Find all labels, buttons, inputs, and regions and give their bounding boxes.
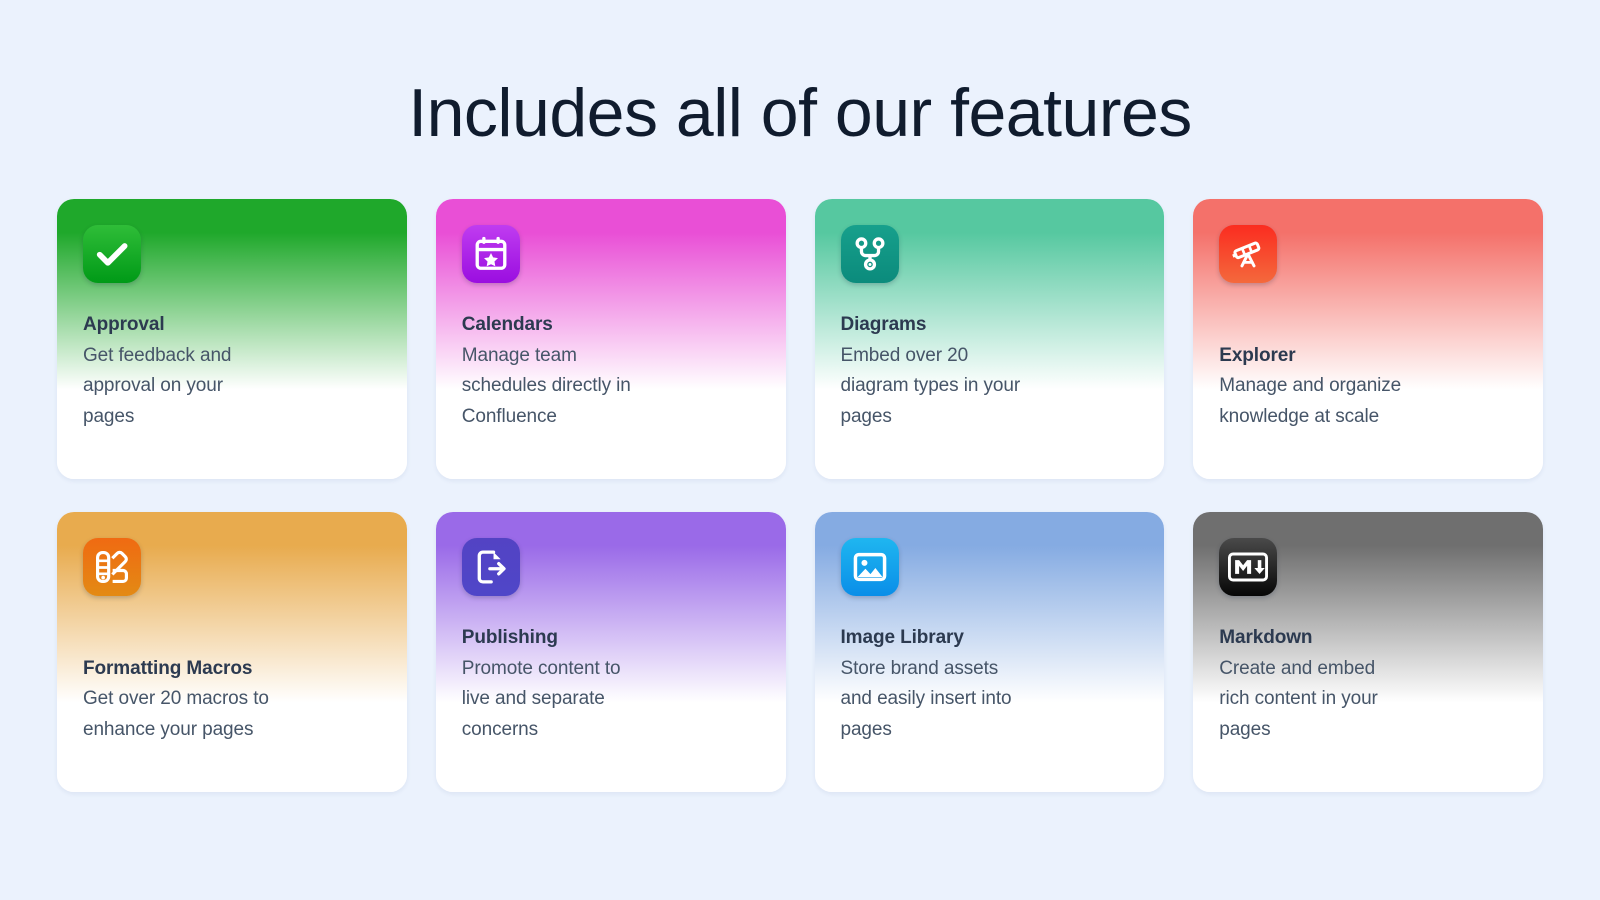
card-content: DiagramsEmbed over 20 diagram types in y… (841, 225, 1139, 479)
card-text-block: Formatting MacrosGet over 20 macros to e… (83, 657, 381, 792)
feature-card[interactable]: MarkdownCreate and embed rich content in… (1193, 512, 1543, 792)
card-title: Image Library (841, 626, 1139, 650)
document-export-icon (472, 548, 510, 586)
card-content: ApprovalGet feedback and approval on you… (83, 225, 381, 479)
card-content: ExplorerManage and organize knowledge at… (1219, 225, 1517, 479)
card-description: Manage and organize knowledge at scale (1219, 371, 1409, 433)
card-description: Embed over 20 diagram types in your page… (841, 341, 1031, 433)
card-text-block: ExplorerManage and organize knowledge at… (1219, 344, 1517, 479)
card-text-block: ApprovalGet feedback and approval on you… (83, 313, 381, 479)
card-text-block: CalendarsManage team schedules directly … (462, 313, 760, 479)
feature-card[interactable]: ApprovalGet feedback and approval on you… (57, 199, 407, 479)
photo-image-icon-tile[interactable] (841, 538, 899, 596)
card-text-block: PublishingPromote content to live and se… (462, 626, 760, 792)
git-branch-icon (851, 235, 889, 273)
markdown-icon-tile[interactable] (1219, 538, 1277, 596)
card-title: Publishing (462, 626, 760, 650)
card-content: PublishingPromote content to live and se… (462, 538, 760, 792)
card-title: Markdown (1219, 626, 1517, 650)
card-title: Diagrams (841, 313, 1139, 337)
feature-card[interactable]: DiagramsEmbed over 20 diagram types in y… (815, 199, 1165, 479)
markdown-icon (1228, 547, 1268, 587)
feature-card[interactable]: ExplorerManage and organize knowledge at… (1193, 199, 1543, 479)
photo-image-icon (851, 548, 889, 586)
card-title: Explorer (1219, 344, 1517, 368)
calendar-star-icon (472, 235, 510, 273)
card-description: Store brand assets and easily insert int… (841, 654, 1031, 746)
card-title: Calendars (462, 313, 760, 337)
card-title: Formatting Macros (83, 657, 381, 681)
card-content: Image LibraryStore brand assets and easi… (841, 538, 1139, 792)
card-text-block: MarkdownCreate and embed rich content in… (1219, 626, 1517, 792)
telescope-icon (1229, 235, 1267, 273)
features-page: Includes all of our features ApprovalGet… (0, 0, 1600, 900)
card-description: Get over 20 macros to enhance your pages (83, 684, 273, 746)
card-text-block: Image LibraryStore brand assets and easi… (841, 626, 1139, 792)
telescope-icon-tile[interactable] (1219, 225, 1277, 283)
card-description: Manage team schedules directly in Conflu… (462, 341, 652, 433)
color-palette-icon (93, 548, 131, 586)
card-content: Formatting MacrosGet over 20 macros to e… (83, 538, 381, 792)
features-grid: ApprovalGet feedback and approval on you… (57, 199, 1543, 792)
feature-card[interactable]: PublishingPromote content to live and se… (436, 512, 786, 792)
check-mark-icon-tile[interactable] (83, 225, 141, 283)
card-content: MarkdownCreate and embed rich content in… (1219, 538, 1517, 792)
card-text-block: DiagramsEmbed over 20 diagram types in y… (841, 313, 1139, 479)
document-export-icon-tile[interactable] (462, 538, 520, 596)
card-description: Get feedback and approval on your pages (83, 341, 273, 433)
card-description: Create and embed rich content in your pa… (1219, 654, 1409, 746)
git-branch-icon-tile[interactable] (841, 225, 899, 283)
card-content: CalendarsManage team schedules directly … (462, 225, 760, 479)
feature-card[interactable]: CalendarsManage team schedules directly … (436, 199, 786, 479)
feature-card[interactable]: Image LibraryStore brand assets and easi… (815, 512, 1165, 792)
check-mark-icon (92, 234, 132, 274)
card-description: Promote content to live and separate con… (462, 654, 652, 746)
card-title: Approval (83, 313, 381, 337)
feature-card[interactable]: Formatting MacrosGet over 20 macros to e… (57, 512, 407, 792)
page-title: Includes all of our features (0, 78, 1600, 149)
calendar-star-icon-tile[interactable] (462, 225, 520, 283)
color-palette-icon-tile[interactable] (83, 538, 141, 596)
